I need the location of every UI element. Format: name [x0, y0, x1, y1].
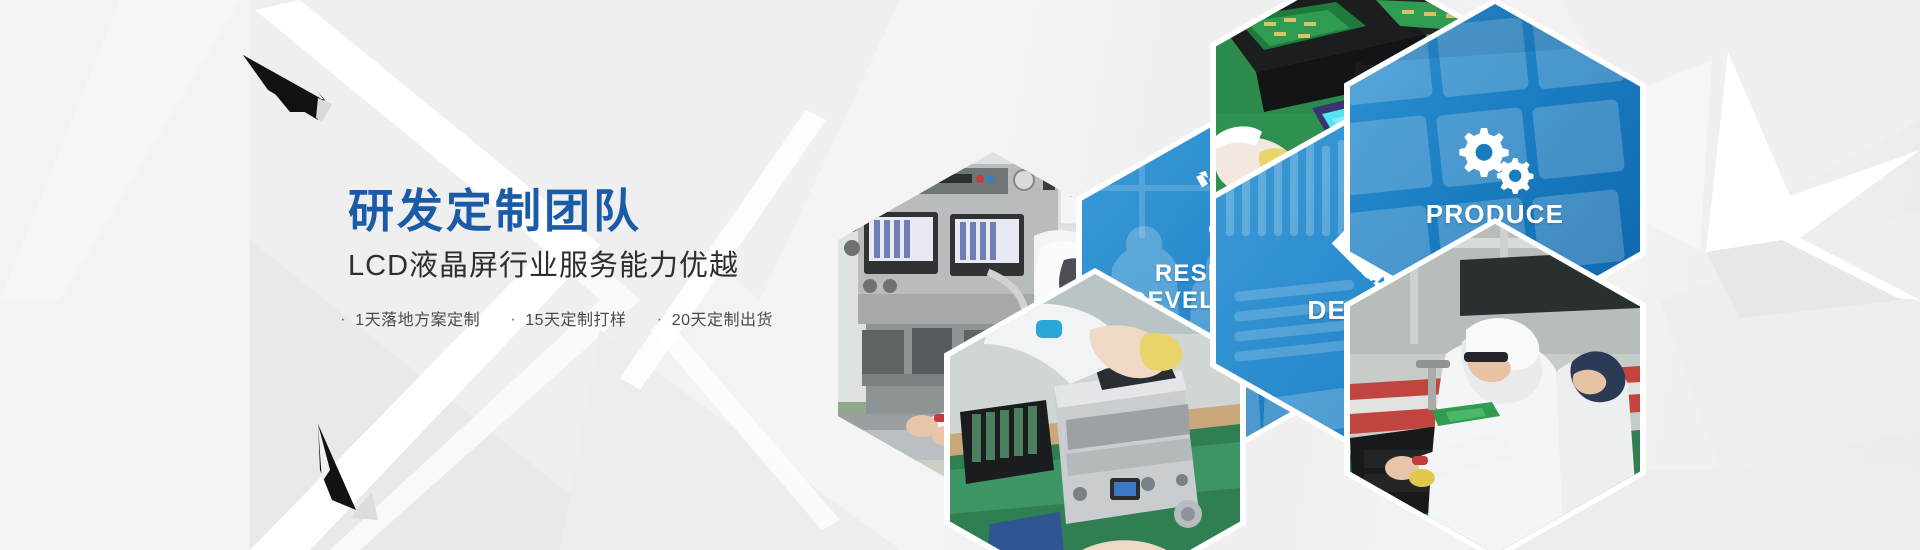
page-subtitle: LCD液晶屏行业服务能力优越 — [0, 248, 820, 284]
list-item-label: 15天定制打样 — [525, 306, 626, 330]
banner-root: 研发定制团队 LCD液晶屏行业服务能力优越 · 1天落地方案定制 · 15天定制… — [0, 0, 1920, 550]
list-item: · 1天落地方案定制 — [340, 306, 480, 330]
list-item-label: 1天落地方案定制 — [355, 306, 480, 330]
page-title: 研发定制团队 — [0, 185, 820, 238]
list-item: · 15天定制打样 — [510, 306, 626, 330]
bullet-dot-icon: · — [510, 310, 516, 327]
list-item-label: 20天定制出货 — [672, 306, 773, 330]
bullet-dot-icon: · — [657, 310, 663, 327]
feature-bullet-list: · 1天落地方案定制 · 15天定制打样 · 20天定制出货 — [0, 306, 820, 330]
list-item: · 20天定制出货 — [657, 306, 773, 330]
hero-text-block: 研发定制团队 LCD液晶屏行业服务能力优越 · 1天落地方案定制 · 15天定制… — [0, 185, 1920, 330]
bullet-dot-icon: · — [340, 310, 346, 327]
